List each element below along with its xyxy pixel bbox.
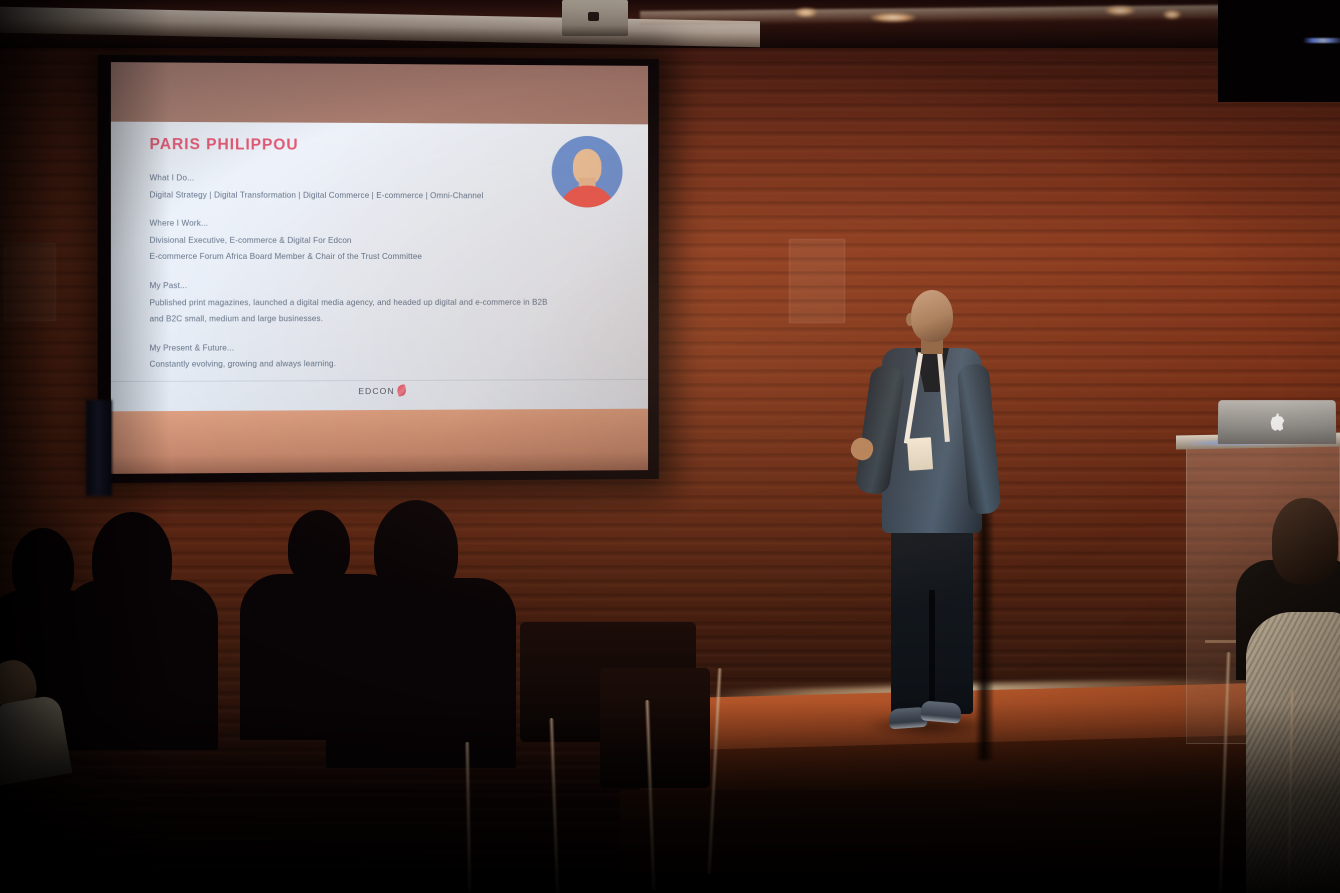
conference-photo: PARIS PHILIPPOU What I Do... Digital Str… <box>0 0 1340 893</box>
photo-vignette <box>0 0 1340 893</box>
